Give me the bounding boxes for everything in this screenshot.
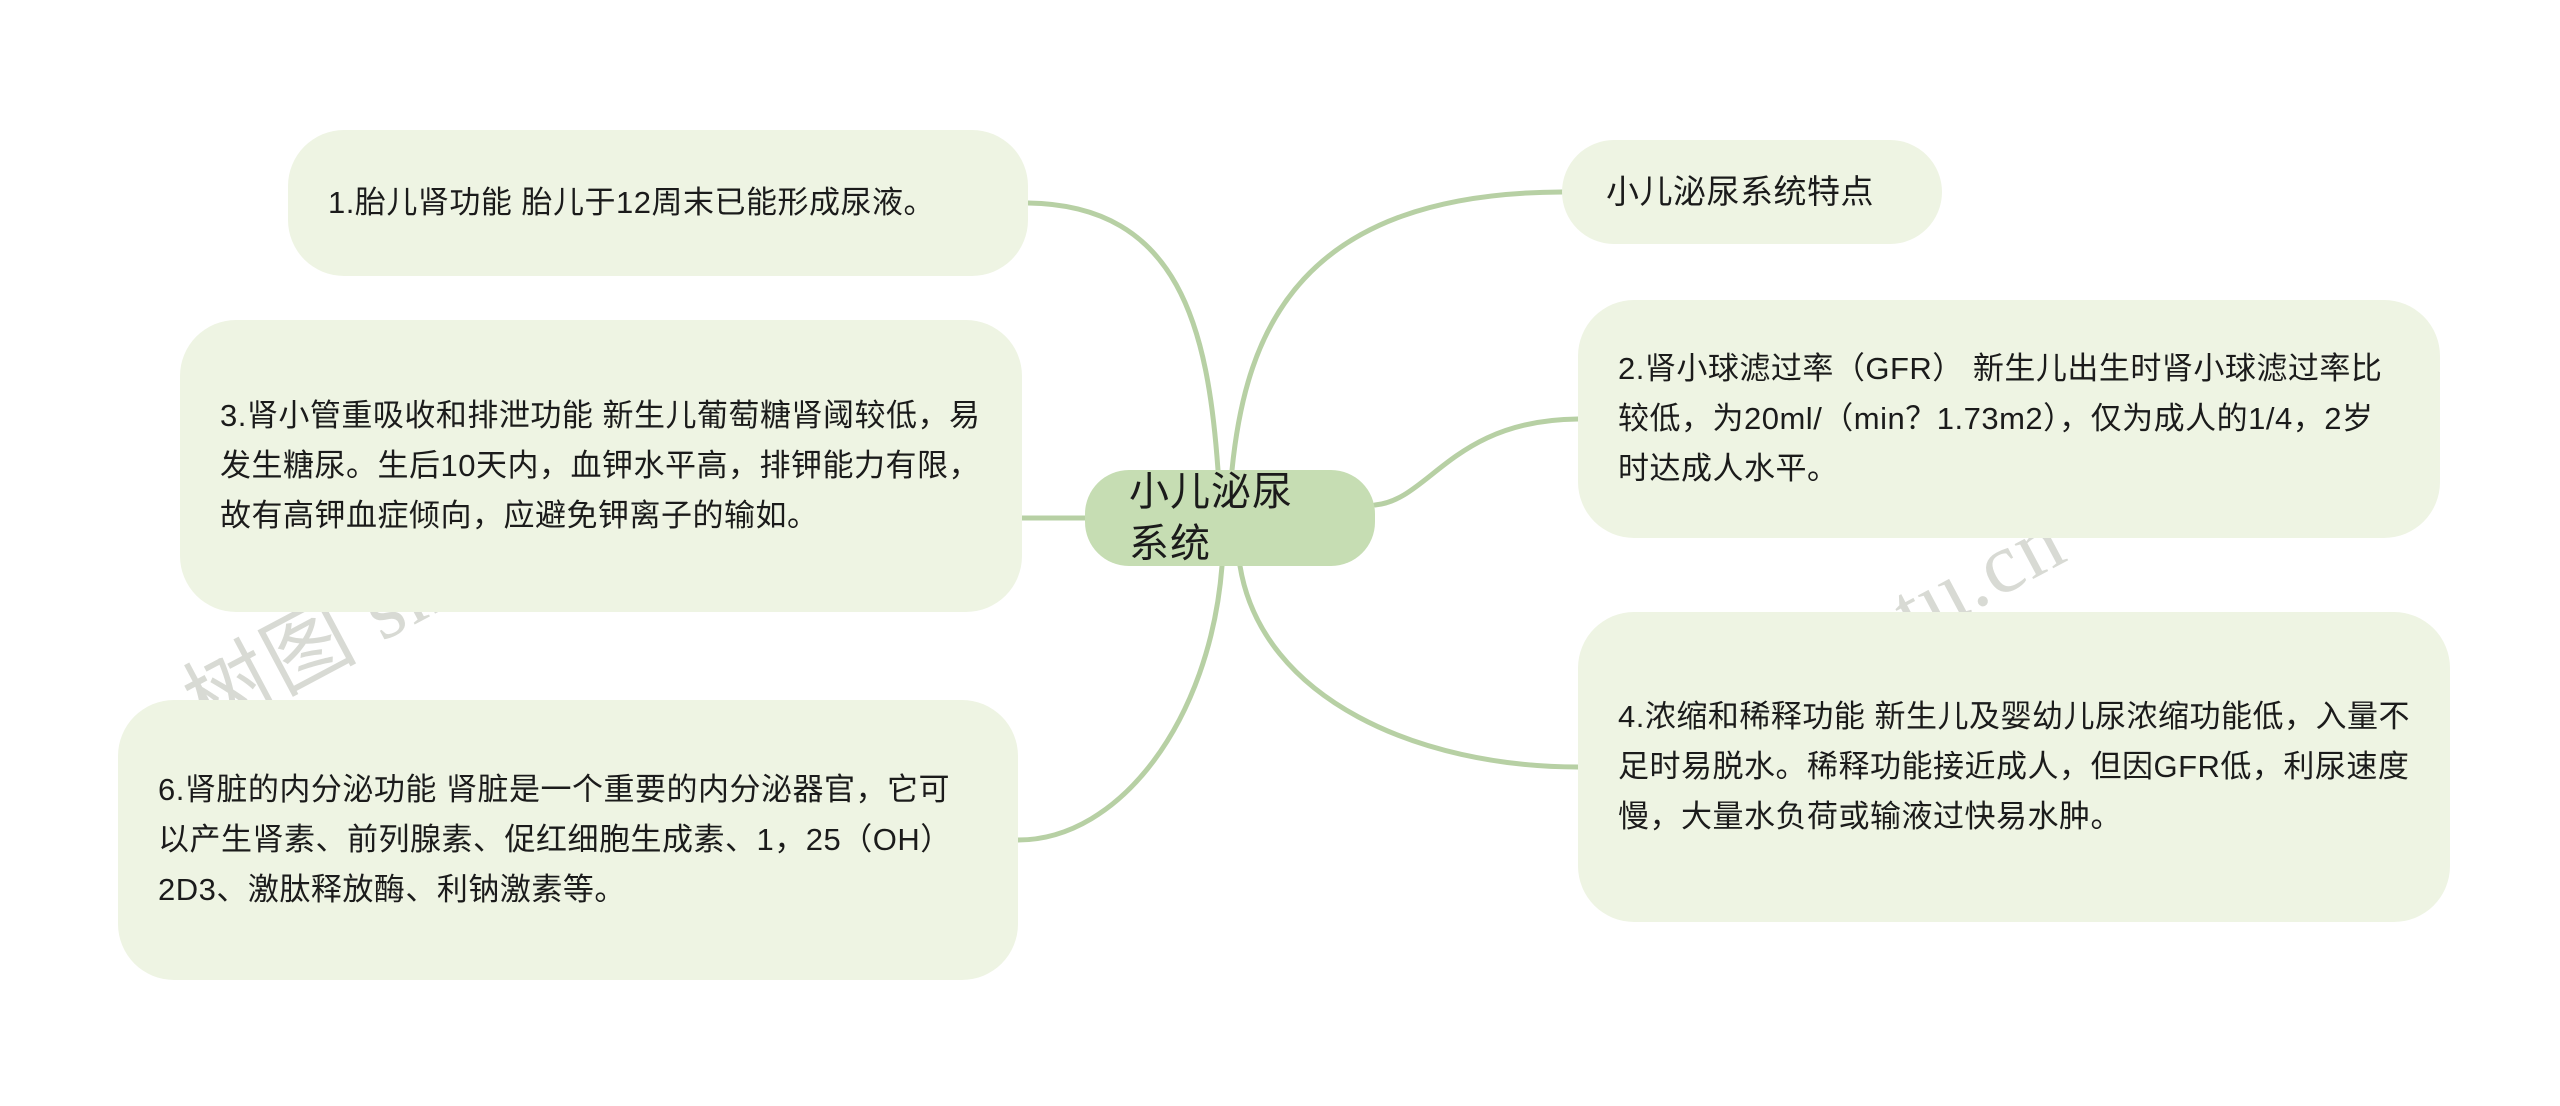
branch-node-6[interactable]: 6.肾脏的内分泌功能 肾脏是一个重要的内分泌器官，它可以产生肾素、前列腺素、促红… [118,700,1018,980]
root-node-label: 小儿泌尿系统 [1129,466,1331,570]
branch-node-3[interactable]: 3.肾小管重吸收和排泄功能 新生儿葡萄糖肾阈较低，易发生糖尿。生后10天内，血钾… [180,320,1022,612]
edge-root-node6 [1018,566,1222,840]
root-node[interactable]: 小儿泌尿系统 [1085,470,1375,566]
branch-node-6-label: 6.肾脏的内分泌功能 肾脏是一个重要的内分泌器官，它可以产生肾素、前列腺素、促红… [158,765,978,916]
branch-node-4[interactable]: 4.浓缩和稀释功能 新生儿及婴幼儿尿浓缩功能低，入量不足时易脱水。稀释功能接近成… [1578,612,2450,922]
edge-root-node1 [1028,203,1218,470]
branch-node-4-label: 4.浓缩和稀释功能 新生儿及婴幼儿尿浓缩功能低，入量不足时易脱水。稀释功能接近成… [1618,692,2410,843]
edge-root-node2 [1375,419,1578,505]
branch-node-3-label: 3.肾小管重吸收和排泄功能 新生儿葡萄糖肾阈较低，易发生糖尿。生后10天内，血钾… [220,391,982,542]
topic-node[interactable]: 小儿泌尿系统特点 [1562,140,1942,244]
branch-node-2[interactable]: 2.肾小球滤过率（GFR） 新生儿出生时肾小球滤过率比较低，为20ml/（min… [1578,300,2440,538]
edge-root-topic [1232,192,1562,470]
branch-node-1[interactable]: 1.胎儿肾功能 胎儿于12周末已能形成尿液。 [288,130,1028,276]
mindmap-canvas: 树图 shutu.cn 树图 shutu.cn 小儿泌尿系统 小儿泌尿系统特点 … [0,0,2560,1106]
branch-node-1-label: 1.胎儿肾功能 胎儿于12周末已能形成尿液。 [328,178,935,228]
edge-root-node4 [1240,566,1578,767]
topic-node-label: 小儿泌尿系统特点 [1606,169,1874,215]
branch-node-2-label: 2.肾小球滤过率（GFR） 新生儿出生时肾小球滤过率比较低，为20ml/（min… [1618,344,2400,495]
